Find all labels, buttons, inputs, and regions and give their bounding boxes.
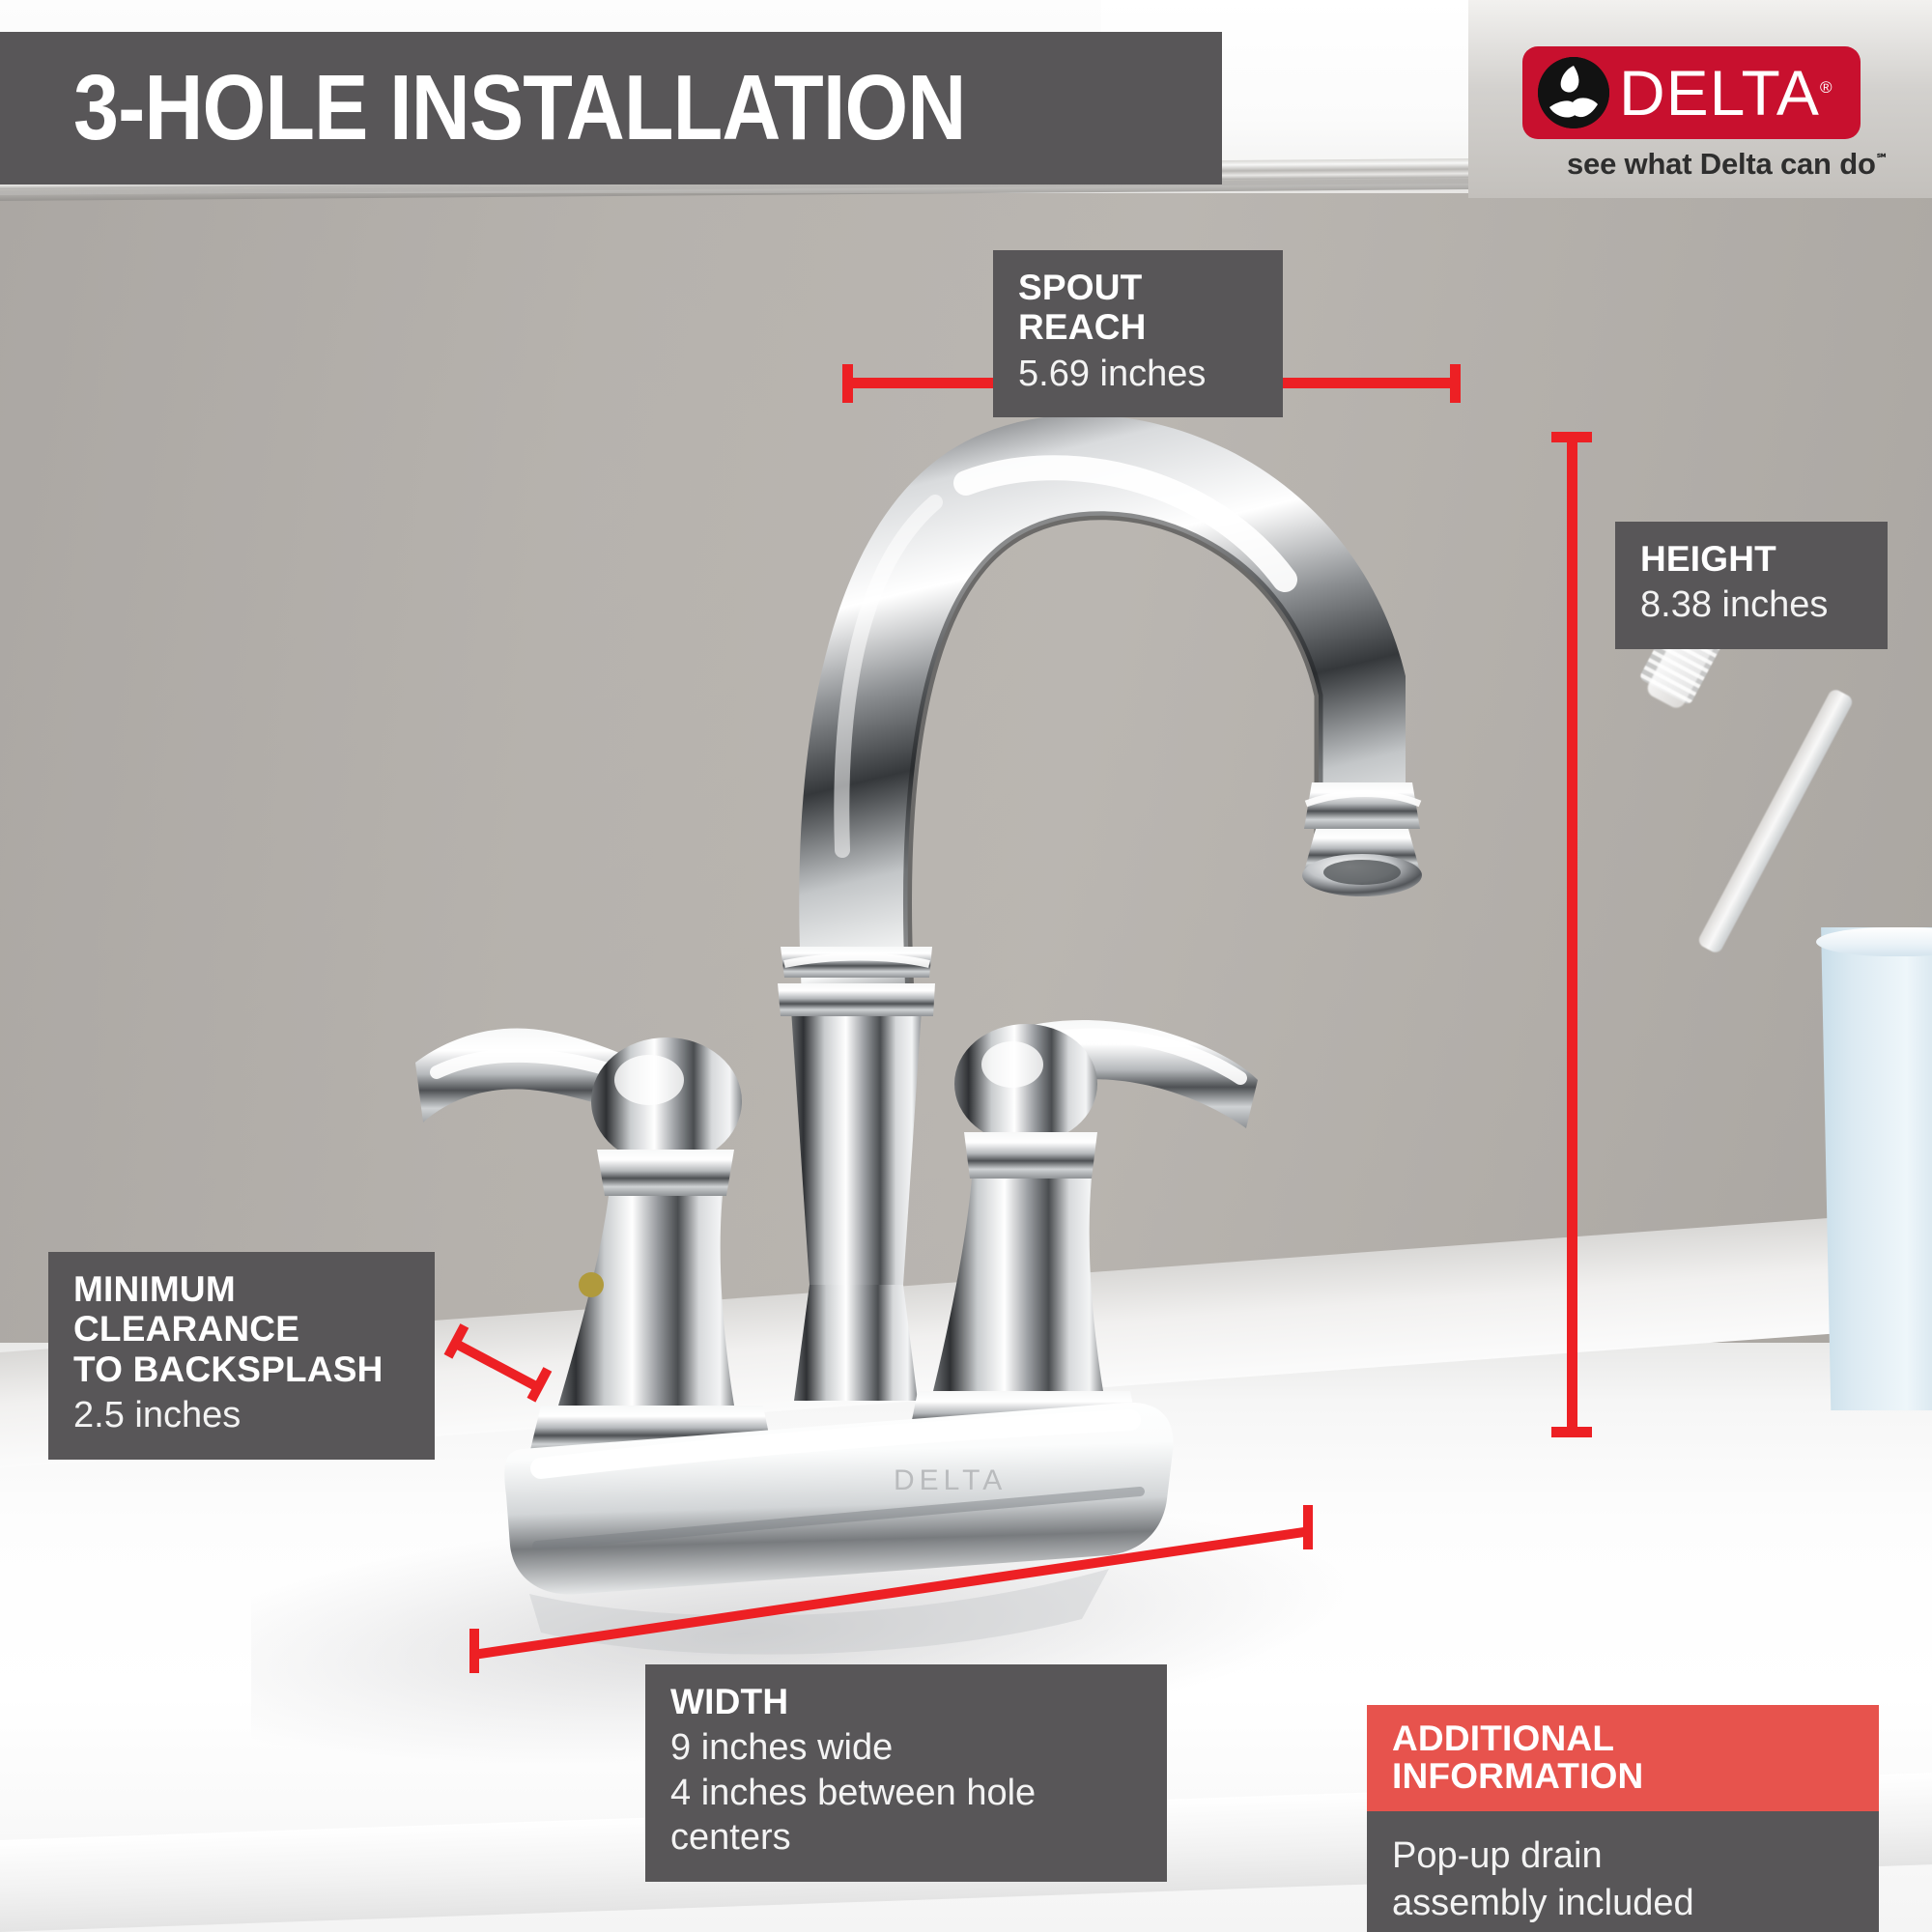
height-cap-top — [1551, 432, 1592, 442]
additional-information-heading: ADDITIONAL INFORMATION — [1367, 1705, 1879, 1811]
callout-clearance-value: 2.5 inches — [73, 1393, 410, 1437]
delta-tagline: see what Delta can do℠ — [1567, 147, 1889, 182]
width-cap-left — [469, 1629, 479, 1673]
callout-spout-reach-heading: SPOUT REACH — [1018, 268, 1258, 348]
callout-height-value: 8.38 inches — [1640, 582, 1862, 627]
callout-height-heading: HEIGHT — [1640, 539, 1862, 579]
height-cap-bottom — [1551, 1427, 1592, 1437]
spout-reach-cap-right — [1450, 364, 1461, 403]
wall-shading — [0, 145, 1932, 1410]
callout-minimum-clearance: MINIMUM CLEARANCE TO BACKSPLASH 2.5 inch… — [48, 1252, 435, 1460]
height-dimension-line — [1567, 432, 1577, 1437]
title-banner: 3-HOLE INSTALLATION — [0, 32, 1222, 185]
delta-wordmark-text: DELTA — [1619, 57, 1820, 128]
width-cap-right — [1303, 1505, 1313, 1549]
callout-width: WIDTH 9 inches wide 4 inches between hol… — [645, 1664, 1167, 1882]
servicemark: ℠ — [1876, 152, 1889, 166]
spout-reach-cap-left — [842, 364, 853, 403]
page-title: 3-HOLE INSTALLATION — [73, 62, 965, 155]
registered-mark: ® — [1820, 78, 1833, 97]
callout-spout-reach: SPOUT REACH 5.69 inches — [993, 250, 1283, 417]
delta-tagline-text: see what Delta can do — [1567, 147, 1876, 181]
toothbrush-tumbler — [1816, 927, 1932, 1410]
callout-width-heading: WIDTH — [670, 1682, 1142, 1721]
delta-logo: DELTA® see what Delta can do℠ — [1522, 46, 1889, 191]
delta-triangle-logomark — [1538, 57, 1609, 128]
callout-additional-information: ADDITIONAL INFORMATION Pop-up drain asse… — [1367, 1705, 1879, 1932]
additional-information-value: Pop-up drain assembly included — [1367, 1811, 1879, 1932]
callout-spout-reach-value: 5.69 inches — [1018, 352, 1258, 396]
product-spec-image: DELTA 3-HOLE INSTALLATION — [0, 0, 1932, 1932]
callout-clearance-heading: MINIMUM CLEARANCE TO BACKSPLASH — [73, 1269, 410, 1389]
callout-height: HEIGHT 8.38 inches — [1615, 522, 1888, 649]
delta-wordmark: DELTA® — [1619, 61, 1832, 125]
callout-width-value: 9 inches wide 4 inches between hole cent… — [670, 1725, 1142, 1860]
logo-red-plate: DELTA® — [1522, 46, 1861, 139]
